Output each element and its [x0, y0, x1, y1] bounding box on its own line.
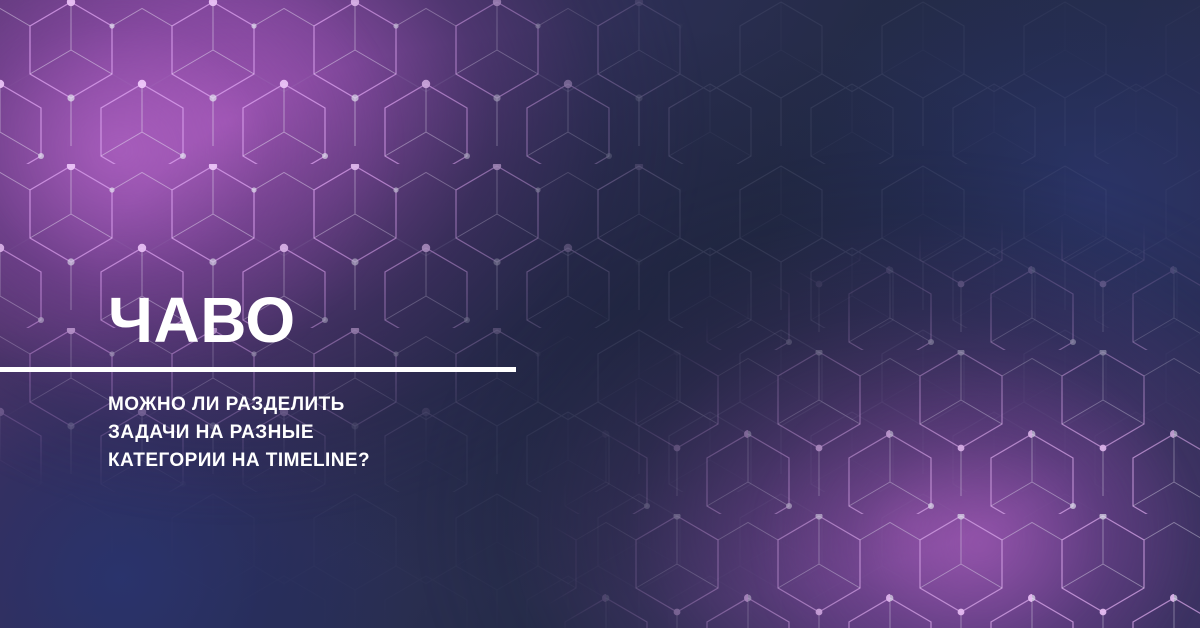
page-title: ЧАВО — [108, 288, 296, 352]
banner-content: ЧАВО МОЖНО ЛИ РАЗДЕЛИТЬ ЗАДАЧИ НА РАЗНЫЕ… — [0, 0, 1200, 628]
subtitle-line-1: МОЖНО ЛИ РАЗДЕЛИТЬ — [108, 391, 528, 419]
subtitle-line-2: ЗАДАЧИ НА РАЗНЫЕ — [108, 419, 528, 447]
title-divider — [0, 367, 516, 372]
subtitle-line-3: КАТЕГОРИИ НА TIMELINE? — [108, 447, 528, 475]
page-subtitle: МОЖНО ЛИ РАЗДЕЛИТЬ ЗАДАЧИ НА РАЗНЫЕ КАТЕ… — [108, 391, 528, 475]
faq-banner: ЧАВО МОЖНО ЛИ РАЗДЕЛИТЬ ЗАДАЧИ НА РАЗНЫЕ… — [0, 0, 1200, 628]
